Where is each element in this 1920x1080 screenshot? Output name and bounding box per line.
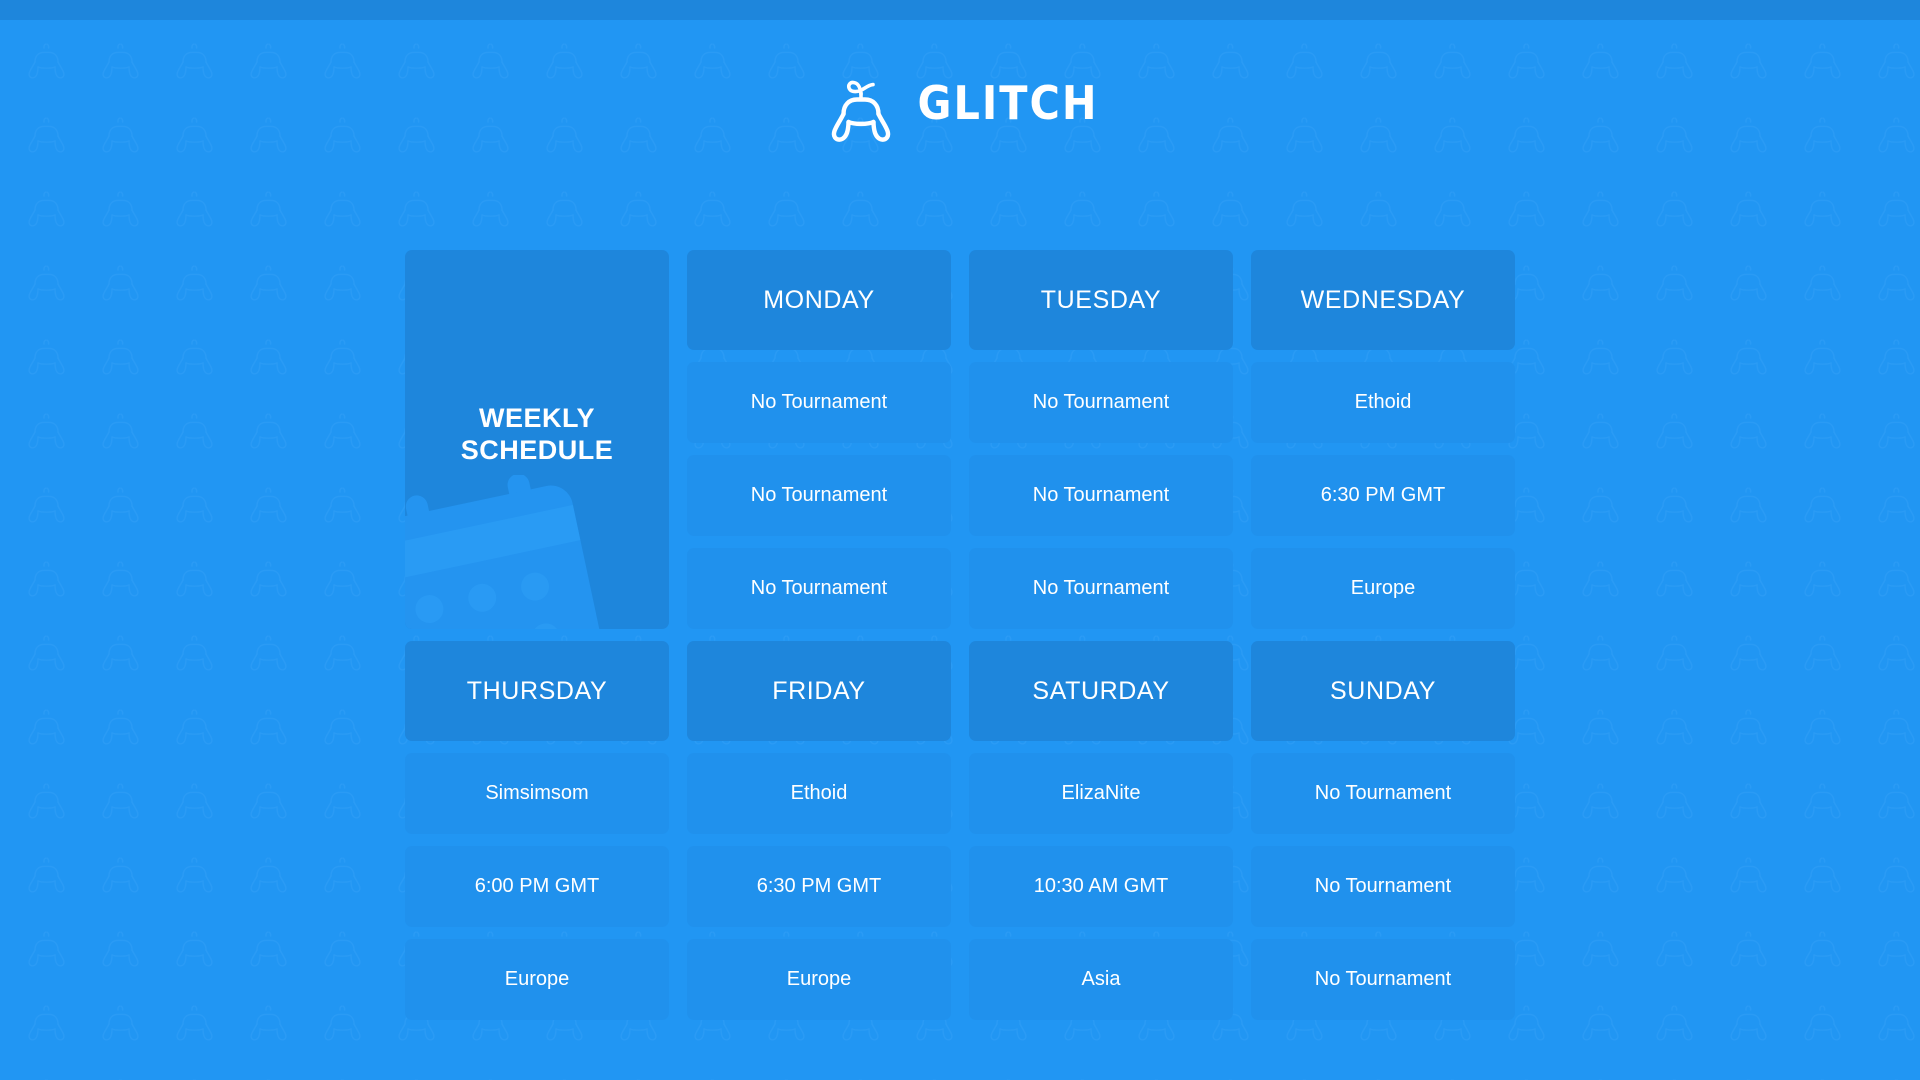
title-line-1: WEEKLY <box>479 403 595 433</box>
brand-header: GLITCH <box>0 60 1920 142</box>
cell-monday-time[interactable]: No Tournament <box>687 455 951 536</box>
cell-saturday-region[interactable]: Asia <box>969 939 1233 1020</box>
cell-monday-tournament[interactable]: No Tournament <box>687 362 951 443</box>
day-header-saturday[interactable]: SATURDAY <box>969 641 1233 741</box>
cell-sunday-tournament[interactable]: No Tournament <box>1251 753 1515 834</box>
cell-wednesday-tournament[interactable]: Ethoid <box>1251 362 1515 443</box>
weekly-schedule-title: WEEKLY SCHEDULE <box>461 403 614 467</box>
cell-thursday-region[interactable]: Europe <box>405 939 669 1020</box>
cell-tuesday-tournament[interactable]: No Tournament <box>969 362 1233 443</box>
cell-sunday-region[interactable]: No Tournament <box>1251 939 1515 1020</box>
cell-monday-region[interactable]: No Tournament <box>687 548 951 629</box>
day-header-friday[interactable]: FRIDAY <box>687 641 951 741</box>
day-header-tuesday[interactable]: TUESDAY <box>969 250 1233 350</box>
weekly-schedule-grid: WEEKLY SCHEDULE MONDAY TUESDAY WEDNESDAY… <box>405 250 1515 1020</box>
cell-thursday-time[interactable]: 6:00 PM GMT <box>405 846 669 927</box>
schedule-block-second: THURSDAY FRIDAY SATURDAY SUNDAY Simsimso… <box>405 641 1515 1020</box>
cell-tuesday-region[interactable]: No Tournament <box>969 548 1233 629</box>
title-line-2: SCHEDULE <box>461 435 614 465</box>
day-header-wednesday[interactable]: WEDNESDAY <box>1251 250 1515 350</box>
cell-saturday-tournament[interactable]: ElizaNite <box>969 753 1233 834</box>
cell-wednesday-time[interactable]: 6:30 PM GMT <box>1251 455 1515 536</box>
cell-sunday-time[interactable]: No Tournament <box>1251 846 1515 927</box>
schedule-block-first: WEEKLY SCHEDULE MONDAY TUESDAY WEDNESDAY… <box>405 250 1515 629</box>
brand-wordmark: GLITCH <box>918 80 1099 126</box>
cell-friday-tournament[interactable]: Ethoid <box>687 753 951 834</box>
cell-wednesday-region[interactable]: Europe <box>1251 548 1515 629</box>
top-accent-bar <box>0 0 1920 20</box>
calendar-icon <box>405 475 621 629</box>
day-header-thursday[interactable]: THURSDAY <box>405 641 669 741</box>
cell-thursday-tournament[interactable]: Simsimsom <box>405 753 669 834</box>
day-header-monday[interactable]: MONDAY <box>687 250 951 350</box>
cell-saturday-time[interactable]: 10:30 AM GMT <box>969 846 1233 927</box>
cell-tuesday-time[interactable]: No Tournament <box>969 455 1233 536</box>
day-header-sunday[interactable]: SUNDAY <box>1251 641 1515 741</box>
weekly-schedule-title-tile: WEEKLY SCHEDULE <box>405 250 669 629</box>
cell-friday-time[interactable]: 6:30 PM GMT <box>687 846 951 927</box>
gamepad-icon <box>822 60 900 142</box>
cell-friday-region[interactable]: Europe <box>687 939 951 1020</box>
